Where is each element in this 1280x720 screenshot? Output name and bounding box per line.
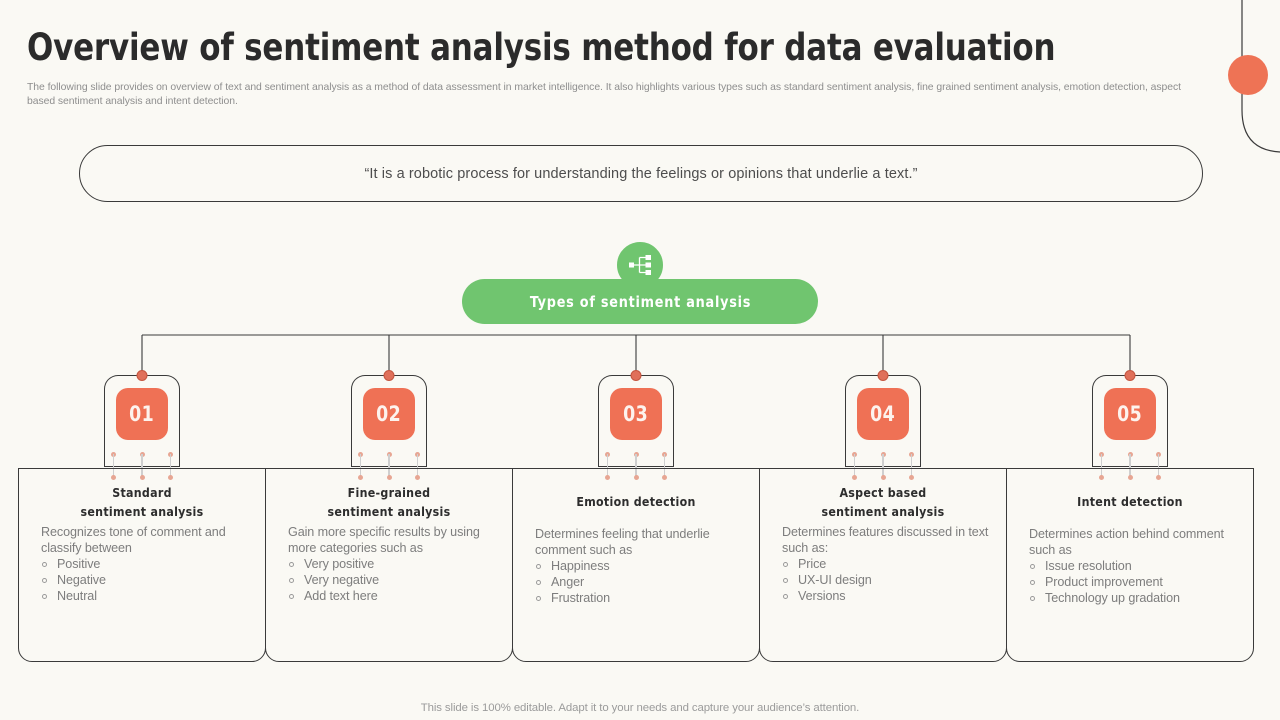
list-item: Very positive [278,556,500,572]
node-dot [631,370,642,381]
list-item: Price [772,556,994,572]
card-list: Price UX-UI design Versions [772,556,994,604]
list-item: Add text here [278,588,500,604]
card-title-line1: Intent detection [1023,493,1236,512]
content-card: Emotion detection Determines feeling tha… [512,468,760,662]
number-badge-label: 03 [623,402,648,426]
badge-frame: 03 [598,375,674,467]
card-body: Determines action behind comment such as… [1019,526,1241,606]
number-badge-label: 02 [376,402,401,426]
card-list: Very positive Very negative Add text her… [278,556,500,604]
card-body: Recognizes tone of comment and classify … [31,524,253,604]
number-badge-label: 01 [129,402,154,426]
card-title: Fine-grained sentiment analysis [282,484,495,522]
list-item: Frustration [525,590,747,606]
number-badge-label: 05 [1117,402,1142,426]
list-item: Product improvement [1019,574,1241,590]
badge-frame: 04 [845,375,921,467]
number-badge[interactable]: 03 [610,388,662,440]
edge-orange-dot [1228,55,1268,95]
card-title: Aspect based sentiment analysis [776,484,989,522]
footer-note: This slide is 100% editable. Adapt it to… [0,702,1280,714]
card-title: Intent detection [1023,493,1236,512]
list-item: Negative [31,572,253,588]
number-badge[interactable]: 01 [116,388,168,440]
node-dot [1125,370,1136,381]
page-subtitle: The following slide provides on overview… [27,81,1192,108]
list-item: Anger [525,574,747,590]
node-dot [878,370,889,381]
number-badge-label: 04 [870,402,895,426]
card-title-line2: sentiment analysis [35,503,248,522]
list-item: Happiness [525,558,747,574]
list-item: Versions [772,588,994,604]
list-item: Issue resolution [1019,558,1241,574]
content-card: Intent detection Determines action behin… [1006,468,1254,662]
card-list: Issue resolution Product improvement Tec… [1019,558,1241,606]
node-dot [137,370,148,381]
list-item: Positive [31,556,253,572]
hierarchy-glyph [627,252,653,278]
content-card: Fine-grained sentiment analysis Gain mor… [265,468,513,662]
card-body: Determines features discussed in text su… [772,524,994,604]
content-card: Standard sentiment analysis Recognizes t… [18,468,266,662]
card-title-line1: Aspect based [776,484,989,503]
card-lead: Determines features discussed in text su… [772,524,994,556]
edge-decoration [1200,0,1280,190]
edge-curve-line [1200,0,1280,190]
types-banner-label: Types of sentiment analysis [529,293,750,311]
card-lead: Determines action behind comment such as [1019,526,1241,558]
quote-banner: “It is a robotic process for understandi… [79,145,1203,202]
card-body: Gain more specific results by using more… [278,524,500,604]
card-title: Emotion detection [529,493,742,512]
badge-frame: 05 [1092,375,1168,467]
card-title-line1: Fine-grained [282,484,495,503]
list-item: Very negative [278,572,500,588]
types-banner: Types of sentiment analysis [462,279,818,324]
number-badge[interactable]: 02 [363,388,415,440]
card-title-line1: Emotion detection [529,493,742,512]
card-lead: Recognizes tone of comment and classify … [31,524,253,556]
card-lead: Gain more specific results by using more… [278,524,500,556]
card-title-line1: Standard [35,484,248,503]
list-item: UX-UI design [772,572,994,588]
node-dot [384,370,395,381]
number-badge[interactable]: 05 [1104,388,1156,440]
number-badge[interactable]: 04 [857,388,909,440]
card-lead: Determines feeling that underlie comment… [525,526,747,558]
badge-frame: 02 [351,375,427,467]
card-title: Standard sentiment analysis [35,484,248,522]
content-card: Aspect based sentiment analysis Determin… [759,468,1007,662]
badge-frame: 01 [104,375,180,467]
page-title: Overview of sentiment analysis method fo… [27,26,1055,69]
list-item: Technology up gradation [1019,590,1241,606]
card-body: Determines feeling that underlie comment… [525,526,747,606]
list-item: Neutral [31,588,253,604]
quote-text: “It is a robotic process for understandi… [364,166,917,182]
card-title-line2: sentiment analysis [282,503,495,522]
card-title-line2: sentiment analysis [776,503,989,522]
card-list: Happiness Anger Frustration [525,558,747,606]
card-list: Positive Negative Neutral [31,556,253,604]
